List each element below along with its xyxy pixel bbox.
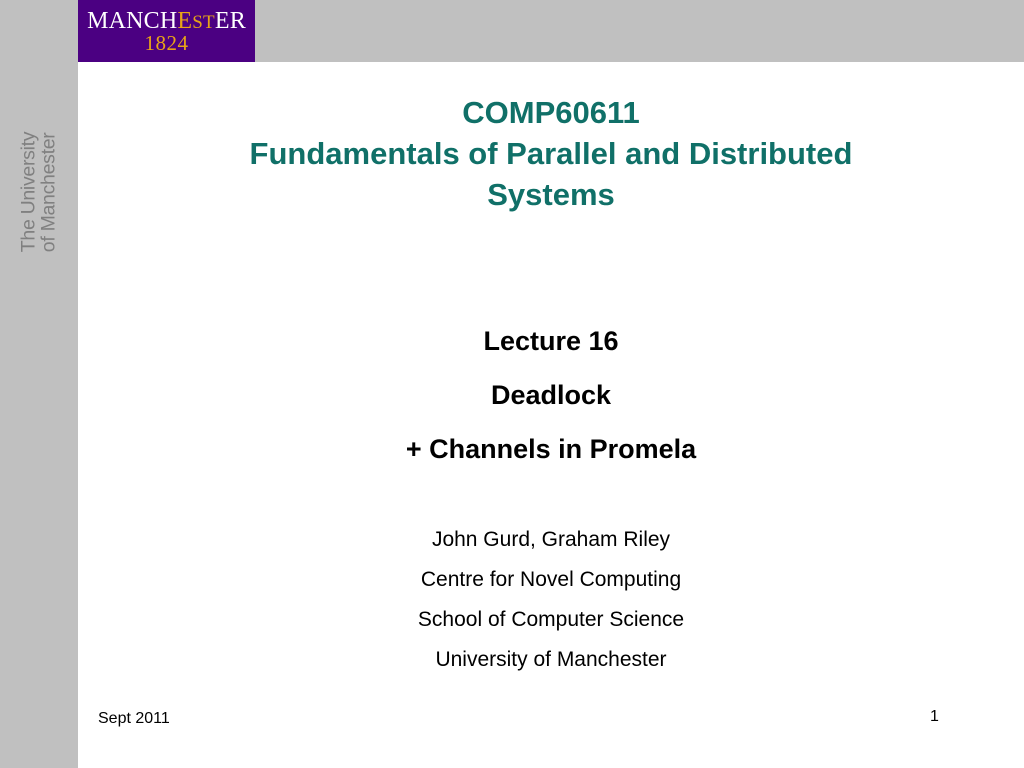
affiliation-line-4: University of Manchester: [140, 640, 962, 680]
affiliation-line-1: John Gurd, Graham Riley: [140, 520, 962, 560]
subtitle-line-3: + Channels in Promela: [140, 422, 962, 476]
footer-page-number: 1: [930, 709, 970, 725]
university-logo: MANCHESTER 1824: [78, 0, 255, 62]
author-affiliation: John Gurd, Graham Riley Centre for Novel…: [140, 520, 962, 680]
subtitle-line-1: Lecture 16: [140, 314, 962, 368]
footer-date: Sept 2011: [98, 711, 170, 727]
logo-word-part-4: ER: [215, 8, 246, 34]
university-vertical-wordmark: The University of Manchester: [0, 62, 78, 322]
vertical-wordmark-line-2: of Manchester: [39, 132, 59, 252]
logo-word-part-3: ST: [192, 12, 215, 33]
subtitle-line-2: Deadlock: [140, 368, 962, 422]
title-line-3: Systems: [140, 174, 962, 215]
page-title: COMP60611 Fundamentals of Parallel and D…: [140, 92, 962, 216]
affiliation-line-3: School of Computer Science: [140, 600, 962, 640]
logo-year-text: 1824: [78, 33, 255, 54]
slide-content: COMP60611 Fundamentals of Parallel and D…: [78, 62, 1024, 768]
vertical-wordmark-line-1: The University: [19, 132, 39, 252]
title-line-2: Fundamentals of Parallel and Distributed: [140, 133, 962, 174]
title-line-1: COMP60611: [140, 92, 962, 133]
affiliation-line-2: Centre for Novel Computing: [140, 560, 962, 600]
slide-canvas: The University of Manchester MANCHESTER …: [0, 0, 1024, 768]
logo-wordmark-text: MANCHESTER: [78, 9, 255, 33]
page-subtitle: Lecture 16 Deadlock + Channels in Promel…: [140, 314, 962, 476]
